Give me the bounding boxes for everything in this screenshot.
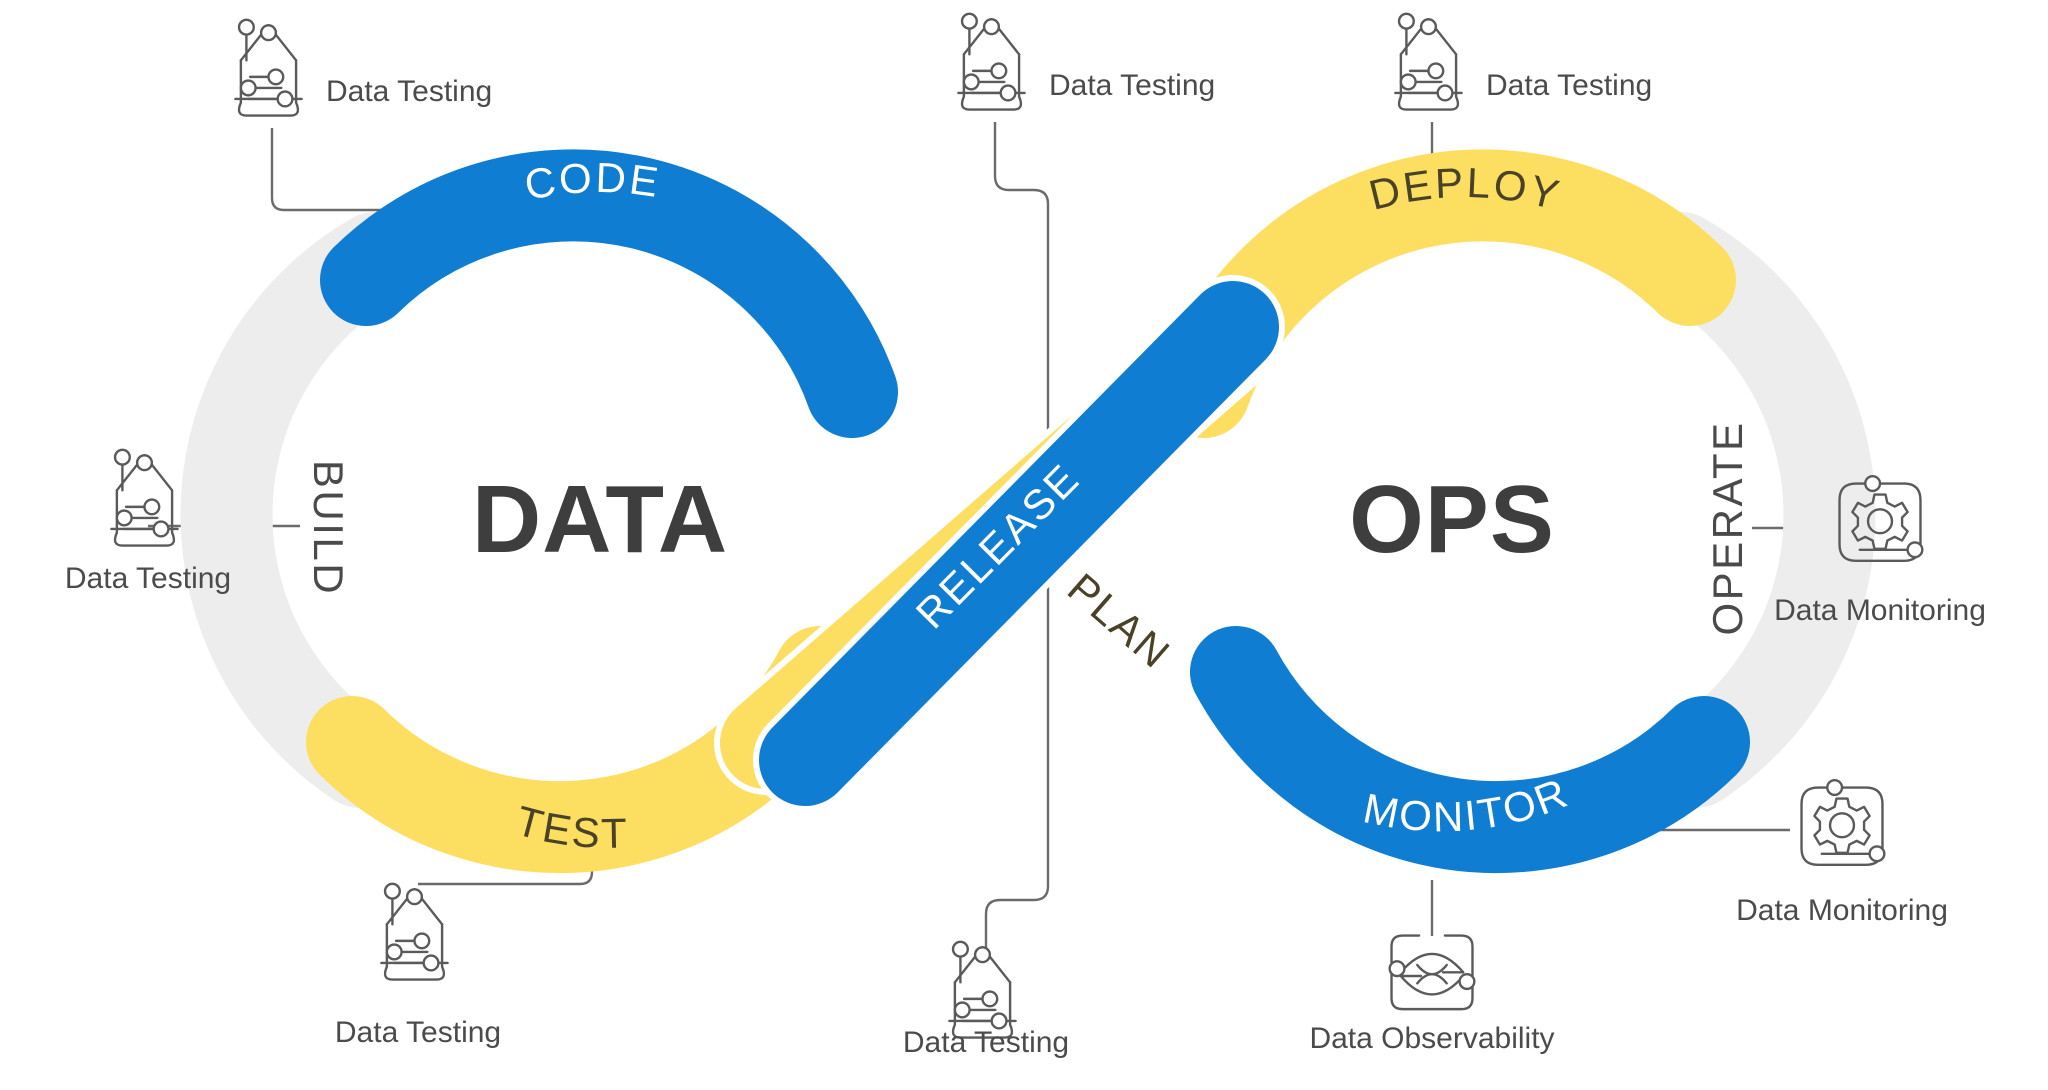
node-label: Data Testing [335,1016,501,1049]
sync-box-icon [1390,936,1475,1010]
gear-box-icon [1840,476,1923,561]
flask-icon [381,884,447,980]
node-data-monitoring-operate[interactable]: Data Monitoring [1774,476,1986,627]
node-data-monitoring-monitor[interactable]: Data Monitoring [1736,780,1948,927]
node-data-testing-release[interactable]: Data Testing [958,14,1215,110]
flask-icon [111,450,177,546]
flask-icon [235,20,301,116]
node-label: Data Testing [1486,69,1652,102]
dataops-infinity-diagram: CODE TEST DEPLOY MONITOR BUILD OPERATE R… [0,0,2048,1090]
flask-icon [1395,14,1461,110]
node-label: Data Monitoring [1774,594,1986,627]
node-label: Data Observability [1309,1022,1554,1055]
node-data-testing-plan[interactable]: Data Testing [903,942,1069,1059]
node-label: Data Monitoring [1736,894,1948,927]
node-label: Data Testing [903,1026,1069,1059]
node-data-testing-test[interactable]: Data Testing [335,884,501,1049]
node-layer: Data Testing Data Testing Data Testing D… [0,0,2048,1090]
node-label: Data Testing [326,75,492,108]
flask-icon [949,942,1015,1038]
gear-box-icon [1802,780,1885,865]
node-label: Data Testing [65,562,231,595]
flask-icon [958,14,1024,110]
node-data-testing-deploy[interactable]: Data Testing [1395,14,1652,110]
node-label: Data Testing [1049,69,1215,102]
node-data-testing-code[interactable]: Data Testing [235,20,492,116]
node-data-observability-monitor[interactable]: Data Observability [1309,936,1554,1055]
node-data-testing-build[interactable]: Data Testing [65,450,231,595]
